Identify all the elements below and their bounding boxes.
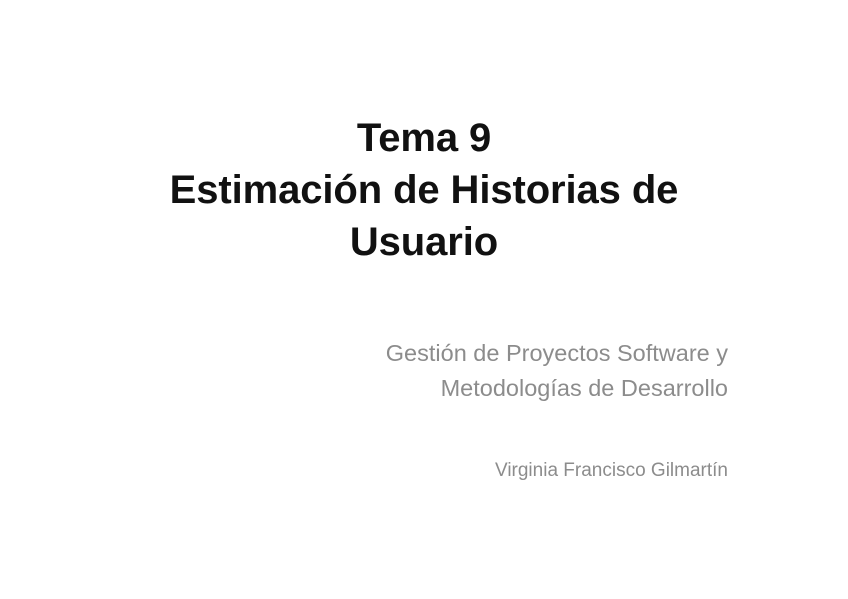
slide-subtitle: Gestión de Proyectos Software y Metodolo…: [300, 336, 728, 406]
title-line-2: Estimación de Historias de: [84, 164, 764, 216]
subtitle-text: Gestión de Proyectos Software y Metodolo…: [300, 336, 728, 406]
title-line-1: Tema 9: [84, 112, 764, 164]
slide-title: Tema 9 Estimación de Historias de Usuari…: [84, 112, 764, 268]
presentation-title-slide: Tema 9 Estimación de Historias de Usuari…: [0, 0, 848, 599]
title-line-3: Usuario: [84, 216, 764, 268]
slide-author: Virginia Francisco Gilmartín: [300, 458, 728, 484]
author-name: Virginia Francisco Gilmartín: [300, 458, 728, 484]
